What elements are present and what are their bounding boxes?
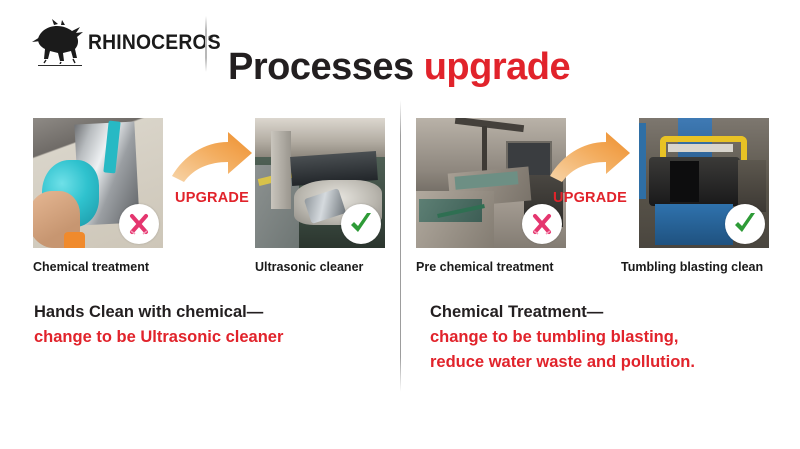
company-logo: RHINOCEROS ® bbox=[30, 18, 195, 70]
cross-icon bbox=[529, 211, 555, 237]
check-badge bbox=[341, 204, 381, 244]
header-divider bbox=[205, 16, 207, 72]
upgrade-arrow-icon bbox=[548, 126, 632, 188]
photo-row: UPGRADE Chemical treatment Ultrasonic cl… bbox=[26, 112, 392, 272]
page-title: Processes upgrade bbox=[228, 41, 570, 93]
page-title-main: Processes bbox=[228, 46, 424, 88]
logo-underline bbox=[38, 65, 82, 66]
cross-icon bbox=[126, 211, 152, 237]
slide-header: RHINOCEROS ® Processes upgrade bbox=[0, 0, 800, 90]
process-panel-left: UPGRADE Chemical treatment Ultrasonic cl… bbox=[26, 112, 392, 272]
check-badge bbox=[725, 204, 765, 244]
summary-headline: Chemical Treatment— bbox=[430, 300, 790, 325]
summary-headline: Hands Clean with chemical— bbox=[34, 300, 384, 325]
photo-after bbox=[255, 118, 385, 248]
photo-row: UPGRADE Pre chemical treatment Tumbling … bbox=[412, 112, 790, 272]
column-divider bbox=[400, 100, 401, 392]
caption-before: Pre chemical treatment bbox=[416, 260, 554, 274]
upgrade-label: UPGRADE bbox=[166, 190, 258, 206]
registered-trademark-icon: ® bbox=[208, 36, 213, 43]
photo-before bbox=[33, 118, 163, 248]
cross-badge bbox=[522, 204, 562, 244]
cross-badge bbox=[119, 204, 159, 244]
check-icon bbox=[347, 210, 375, 238]
summary-text-right: Chemical Treatment— change to be tumblin… bbox=[430, 300, 790, 375]
photo-after bbox=[639, 118, 769, 248]
upgrade-arrow-icon bbox=[170, 126, 254, 188]
presentation-slide: RHINOCEROS ® Processes upgrade bbox=[0, 0, 800, 449]
caption-before: Chemical treatment bbox=[33, 260, 149, 274]
rhinoceros-logo-icon bbox=[30, 18, 92, 64]
summary-detail-1: change to be tumbling blasting, bbox=[430, 325, 790, 350]
summary-text-left: Hands Clean with chemical— change to be … bbox=[34, 300, 384, 350]
upgrade-indicator-left: UPGRADE bbox=[166, 126, 258, 206]
summary-detail-1: change to be Ultrasonic cleaner bbox=[34, 325, 384, 350]
page-title-accent: upgrade bbox=[424, 46, 570, 88]
process-panel-right: UPGRADE Pre chemical treatment Tumbling … bbox=[412, 112, 790, 272]
upgrade-indicator-right: UPGRADE bbox=[544, 126, 636, 206]
caption-after: Ultrasonic cleaner bbox=[255, 260, 363, 274]
check-icon bbox=[731, 210, 759, 238]
caption-after: Tumbling blasting clean bbox=[621, 260, 763, 274]
summary-detail-2: reduce water waste and pollution. bbox=[430, 350, 790, 375]
logo-wordmark: RHINOCEROS bbox=[88, 31, 221, 55]
upgrade-label: UPGRADE bbox=[544, 190, 636, 206]
